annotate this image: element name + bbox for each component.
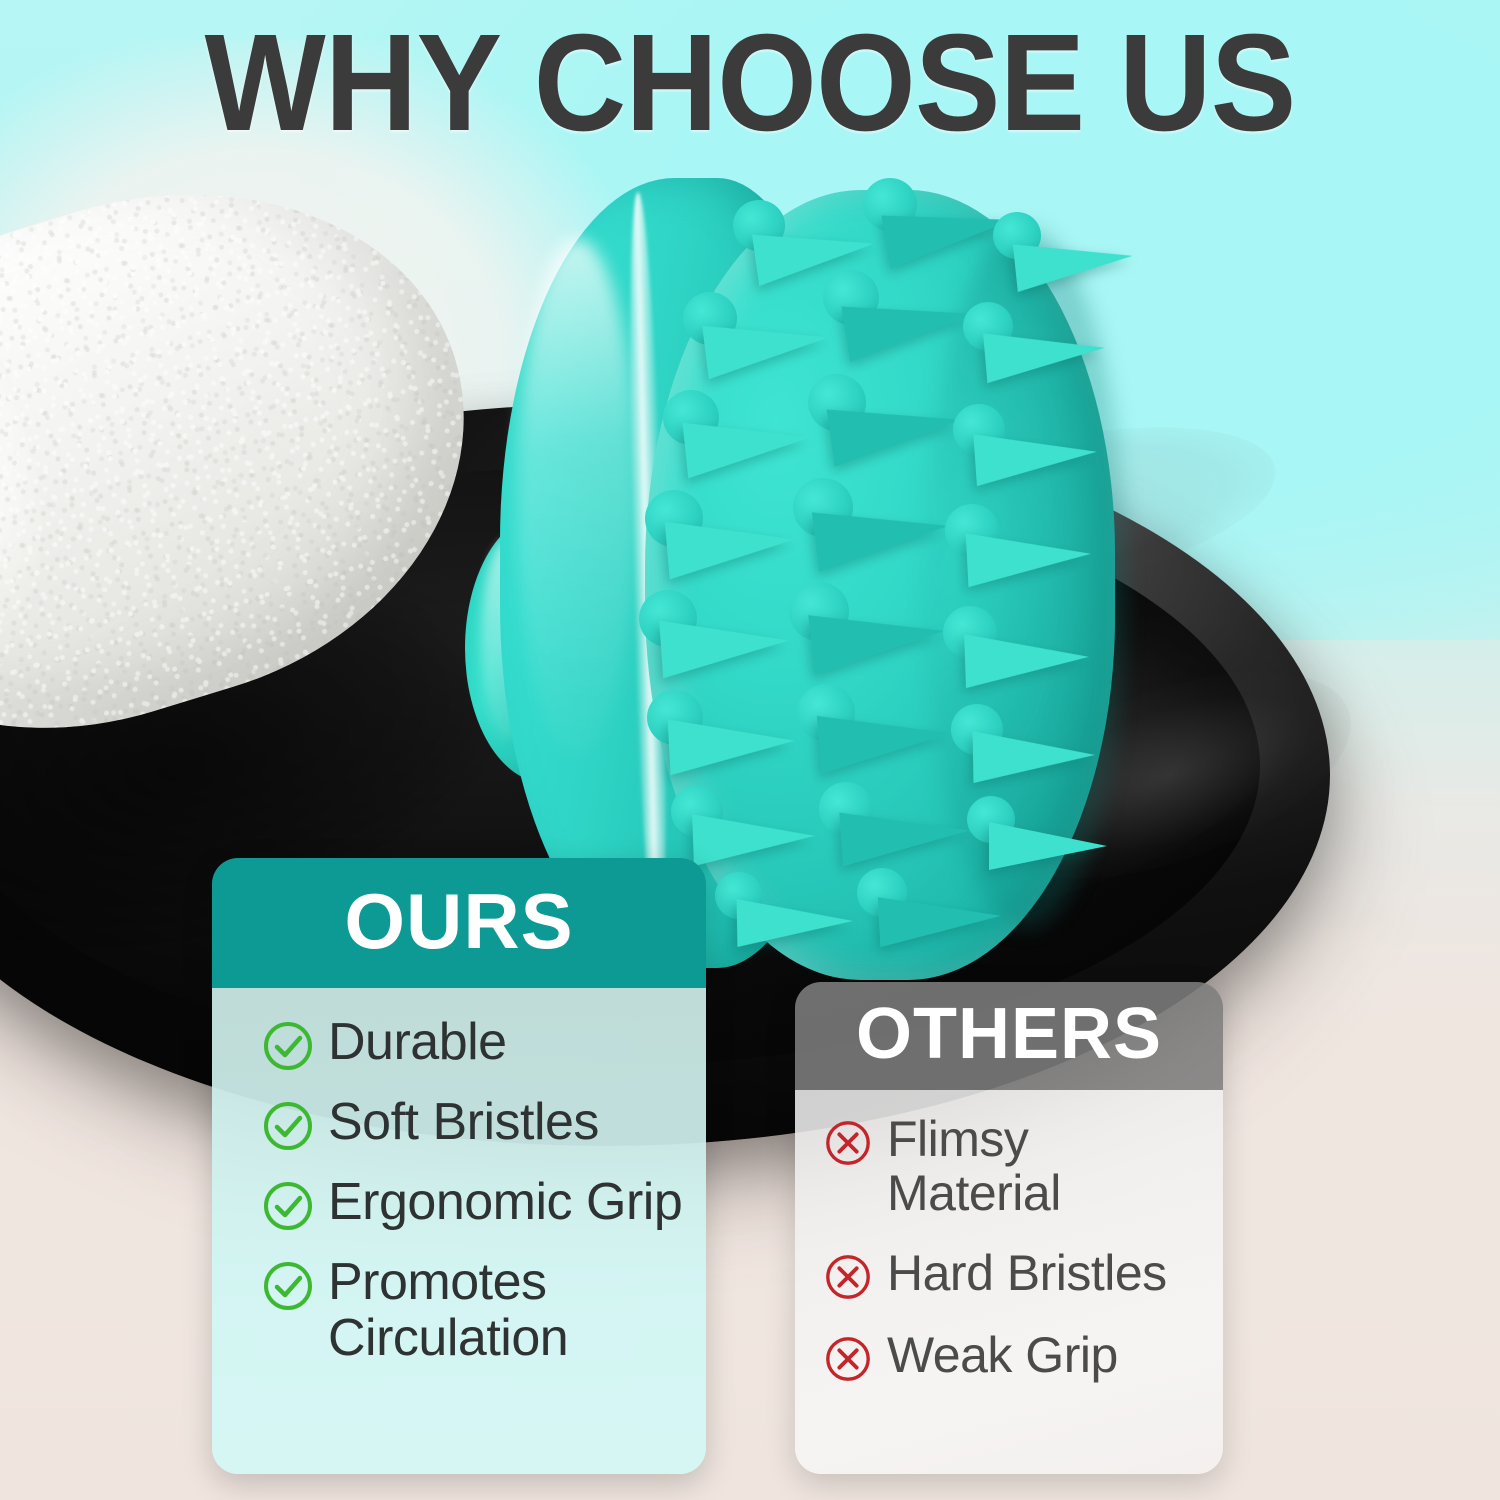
- brush-back-highlight: [517, 238, 637, 758]
- list-item: Hard Bristles: [823, 1246, 1207, 1302]
- cross-circle-icon: [823, 1118, 873, 1168]
- feature-label: Promotes Circulation: [328, 1254, 684, 1366]
- others-card-title: OTHERS: [856, 998, 1162, 1070]
- product-comparison-image: WHY CHOOSE US OURS DurableSoft BristlesE…: [0, 0, 1500, 1500]
- ours-card[interactable]: OURS DurableSoft BristlesErgonomic GripP…: [212, 858, 706, 1474]
- list-item: Ergonomic Grip: [262, 1174, 684, 1232]
- ours-feature-list: DurableSoft BristlesErgonomic GripPromot…: [262, 1014, 684, 1366]
- feature-label: Hard Bristles: [887, 1246, 1167, 1300]
- others-card-body: Flimsy MaterialHard BristlesWeak Grip: [795, 1090, 1223, 1474]
- list-item: Flimsy Material: [823, 1112, 1207, 1220]
- ours-card-header: OURS: [212, 858, 706, 988]
- feature-label: Soft Bristles: [328, 1094, 599, 1150]
- list-item: Promotes Circulation: [262, 1254, 684, 1366]
- feature-label: Flimsy Material: [887, 1112, 1207, 1220]
- feature-label: Ergonomic Grip: [328, 1174, 682, 1230]
- cross-circle-icon: [823, 1334, 873, 1384]
- check-circle-icon: [262, 1180, 314, 1232]
- feature-label: Durable: [328, 1014, 507, 1070]
- feature-label: Weak Grip: [887, 1328, 1118, 1382]
- list-item: Durable: [262, 1014, 684, 1072]
- check-circle-icon: [262, 1020, 314, 1072]
- ours-card-title: OURS: [344, 882, 573, 960]
- scalp-massager-brush: [455, 168, 1155, 978]
- others-card[interactable]: OTHERS Flimsy MaterialHard BristlesWeak …: [795, 982, 1223, 1474]
- others-card-header: OTHERS: [795, 982, 1223, 1090]
- ours-card-body: DurableSoft BristlesErgonomic GripPromot…: [212, 988, 706, 1474]
- others-feature-list: Flimsy MaterialHard BristlesWeak Grip: [823, 1112, 1207, 1384]
- page-title: WHY CHOOSE US: [53, 14, 1448, 152]
- check-circle-icon: [262, 1260, 314, 1312]
- list-item: Soft Bristles: [262, 1094, 684, 1152]
- check-circle-icon: [262, 1100, 314, 1152]
- list-item: Weak Grip: [823, 1328, 1207, 1384]
- cross-circle-icon: [823, 1252, 873, 1302]
